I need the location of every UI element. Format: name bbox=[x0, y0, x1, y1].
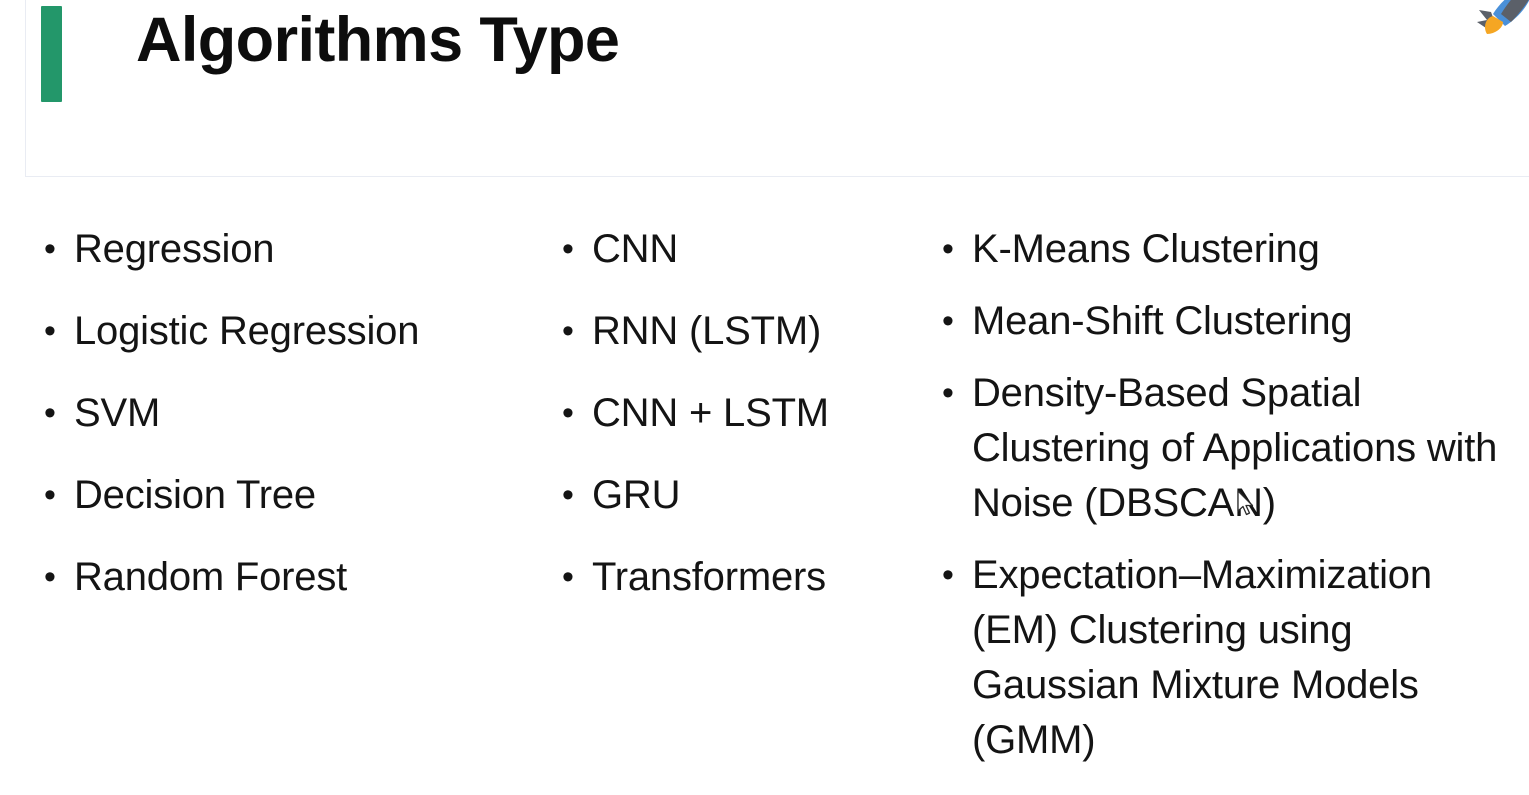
list-item: Expectation–Maximization (EM) Clustering… bbox=[938, 548, 1523, 768]
list-item: RNN (LSTM) bbox=[558, 304, 918, 359]
list-item: K-Means Clustering bbox=[938, 222, 1523, 277]
list-item: CNN bbox=[558, 222, 918, 277]
list-item: SVM bbox=[40, 386, 550, 441]
column-supervised-algorithms: Regression Logistic Regression SVM Decis… bbox=[40, 222, 550, 605]
column-clustering-algorithms: K-Means Clustering Mean-Shift Clustering… bbox=[938, 222, 1523, 768]
column-deep-learning-algorithms: CNN RNN (LSTM) CNN + LSTM GRU Transforme… bbox=[558, 222, 918, 605]
bullet-list: K-Means Clustering Mean-Shift Clustering… bbox=[938, 222, 1523, 768]
list-item: CNN + LSTM bbox=[558, 386, 918, 441]
list-item: Density-Based Spatial Clustering of Appl… bbox=[938, 366, 1523, 531]
list-item: Decision Tree bbox=[40, 468, 550, 523]
bullet-list: CNN RNN (LSTM) CNN + LSTM GRU Transforme… bbox=[558, 222, 918, 605]
list-item: GRU bbox=[558, 468, 918, 523]
bullet-list: Regression Logistic Regression SVM Decis… bbox=[40, 222, 550, 605]
list-item: Random Forest bbox=[40, 550, 550, 605]
page-title: Algorithms Type bbox=[136, 6, 619, 74]
list-item: Logistic Regression bbox=[40, 304, 550, 359]
content-columns: Regression Logistic Regression SVM Decis… bbox=[0, 222, 1529, 795]
accent-bar bbox=[41, 6, 62, 102]
list-item: Mean-Shift Clustering bbox=[938, 294, 1523, 349]
list-item: Regression bbox=[40, 222, 550, 277]
slide-canvas: Algorithms Type Regression Logistic Regr… bbox=[0, 0, 1529, 795]
title-block: Algorithms Type bbox=[25, 0, 1529, 177]
list-item: Transformers bbox=[558, 550, 918, 605]
